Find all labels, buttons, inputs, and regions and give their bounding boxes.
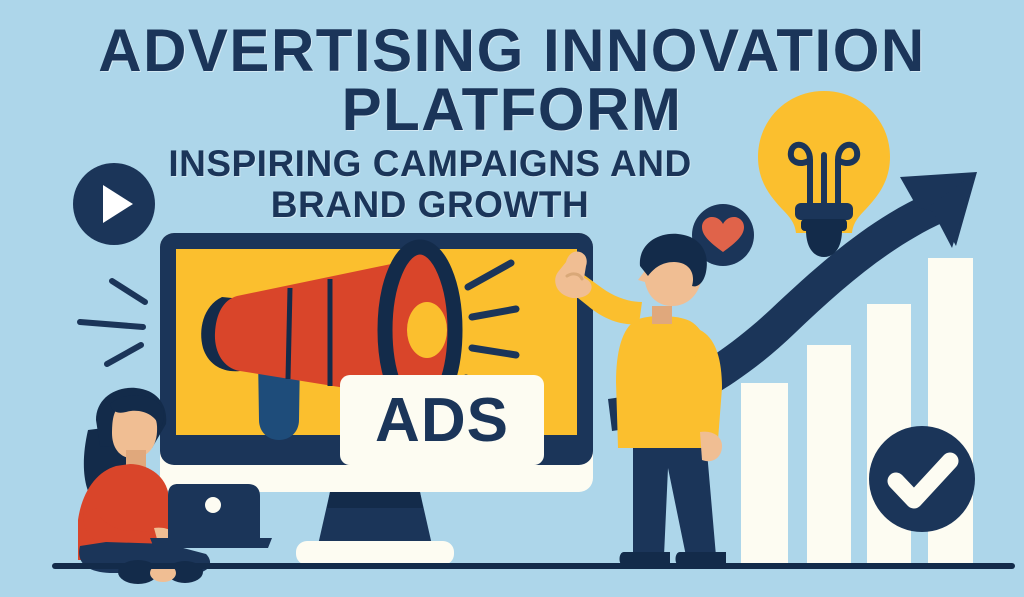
check-circle-icon [869, 426, 975, 532]
bar-1 [741, 383, 788, 565]
bar-2 [807, 345, 851, 565]
laptop-icon [150, 484, 272, 548]
page-subtitle: Inspiring campaigns and brand growth [0, 143, 860, 226]
ads-label: ADS [344, 385, 540, 456]
poster-canvas: Advertising Innovation Platform Inspirin… [0, 0, 1024, 597]
page-title: Advertising Innovation Platform [0, 22, 1024, 140]
